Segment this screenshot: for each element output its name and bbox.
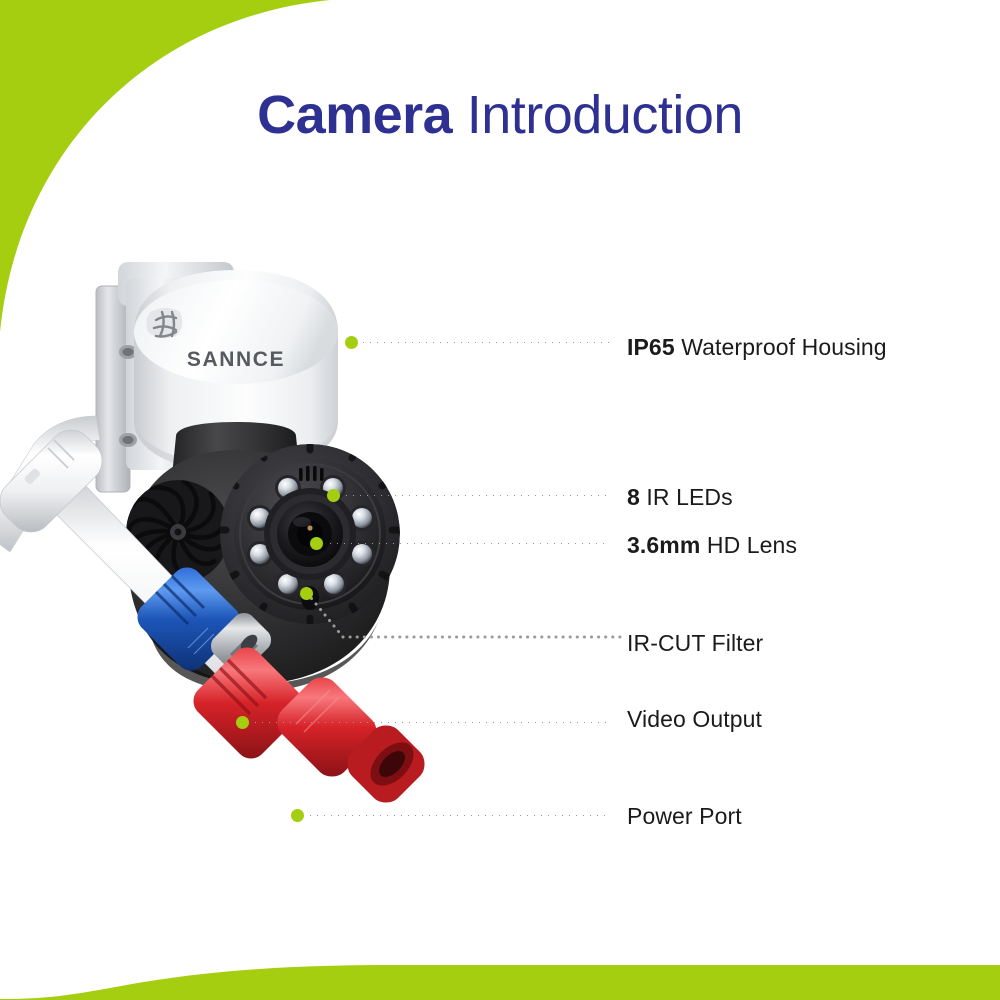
hotspot-dot-video-output [236,716,249,729]
callout-ir-leds-rest: IR LEDs [640,484,733,510]
hotspot-dot-hd-lens [310,537,323,550]
callout-hd-lens-bold: 3.6mm [627,532,700,558]
callout-ip65-waterproof-housing: IP65 Waterproof Housing [627,334,887,361]
hotspot-dot-ir-cut-filter [300,587,313,600]
page-title: Camera Introduction [0,83,1000,147]
hotspot-dot-power-port [291,809,304,822]
callout-video-output: Video Output [627,706,762,733]
leader-line-ir-leds [343,494,610,497]
brand-logo-text: SANNCE [187,348,285,371]
callout-ir-leds-bold: 8 [627,484,640,510]
callout-ir-cut-filter-text: IR-CUT Filter [627,630,763,656]
callout-hd-lens-rest: HD Lens [700,532,797,558]
green-bottom-decoration [0,925,1000,1000]
page-title-bold: Camera [257,85,452,145]
callout-ip65-rest: Waterproof Housing [675,334,887,360]
housing-vent-grille [146,308,182,338]
infographic-canvas: Camera Introduction [0,0,1000,1000]
callout-ir-cut-filter: IR-CUT Filter [627,630,763,657]
callout-power-port-text: Power Port [627,803,742,829]
leader-line-hd-lens [327,542,610,545]
leader-line-video-output [252,721,610,724]
page-title-light: Introduction [452,85,743,145]
hotspot-dot-ip65 [345,336,358,349]
callout-video-output-text: Video Output [627,706,762,732]
callout-hd-lens: 3.6mm HD Lens [627,532,797,559]
callout-power-port: Power Port [627,803,742,830]
callout-ip65-bold: IP65 [627,334,675,360]
leader-line-ip65 [360,341,610,344]
hotspot-dot-ir-leds [327,489,340,502]
leader-line-power-port [307,814,610,817]
callout-ir-leds: 8 IR LEDs [627,484,733,511]
